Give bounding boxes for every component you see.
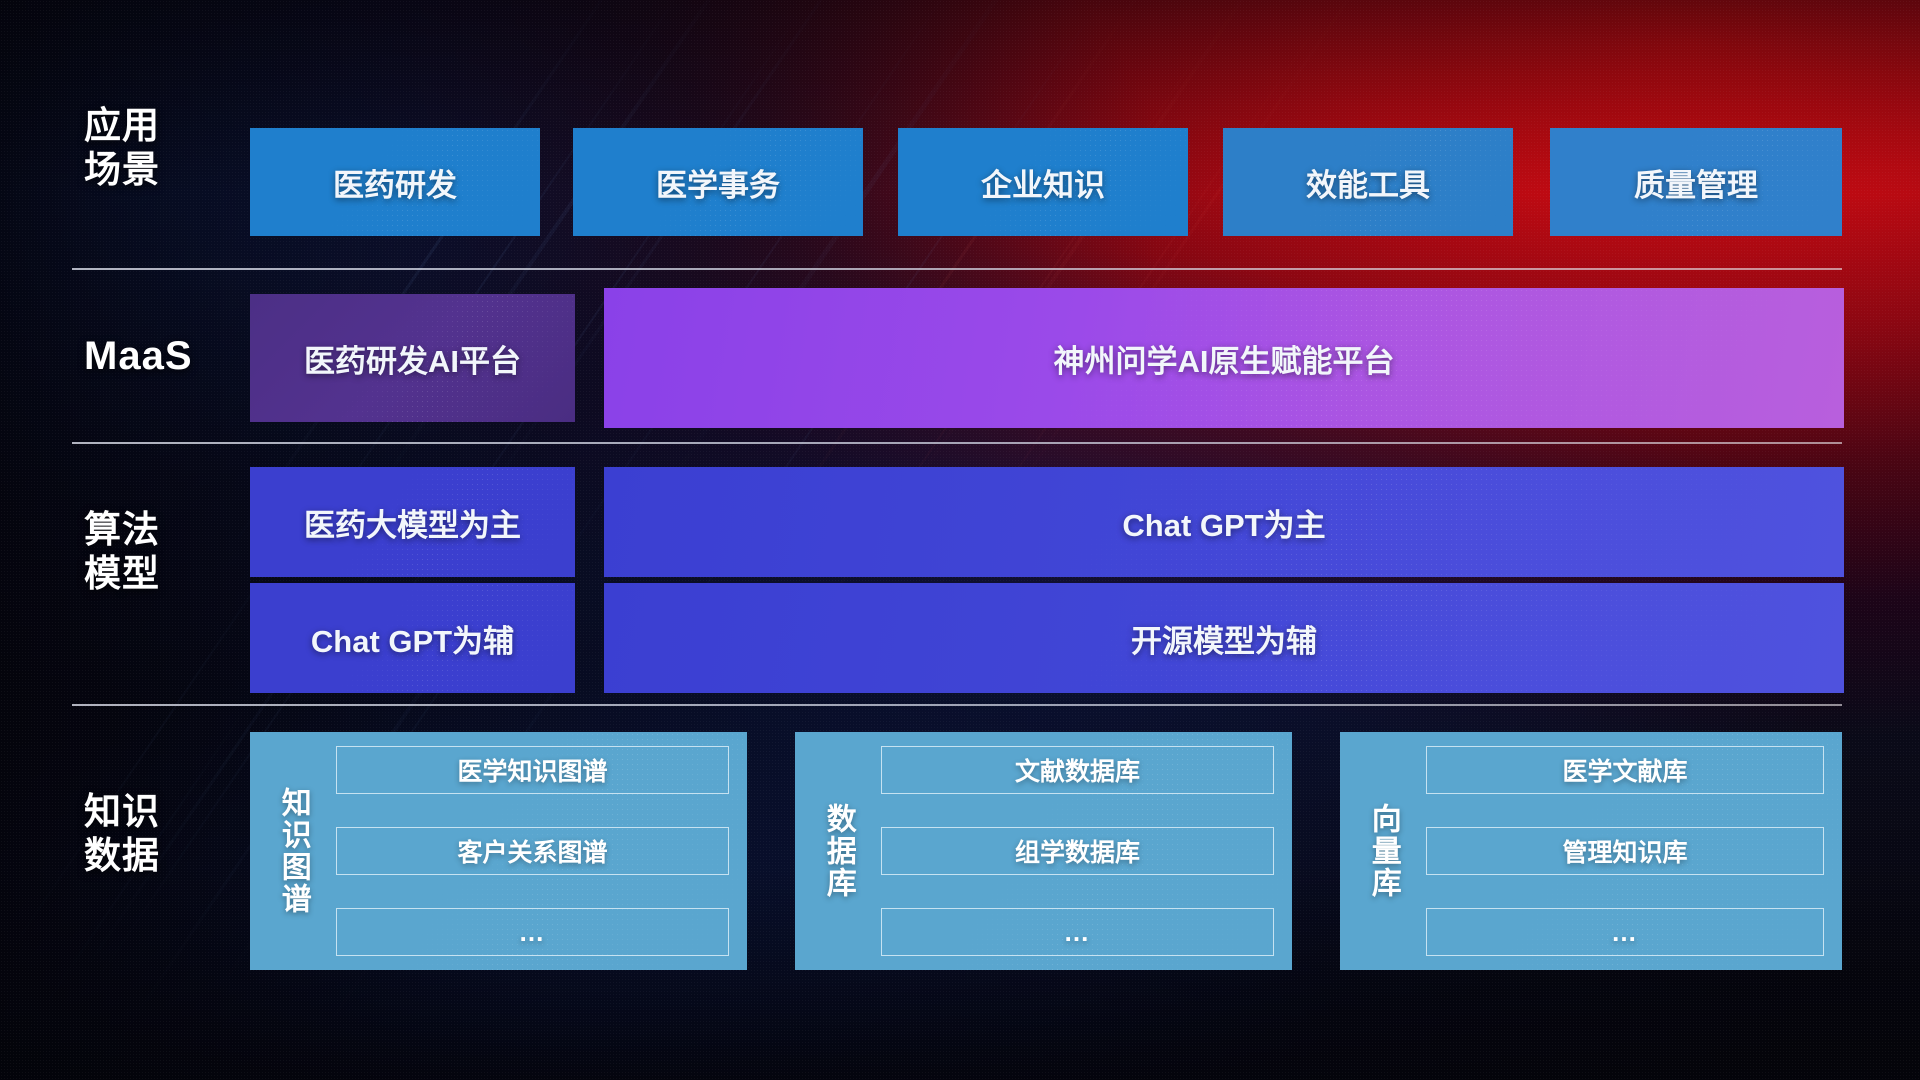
row-label-application: 应用 场景 — [84, 104, 234, 191]
knowledge-panel-vector[interactable]: 向量库 医学文献库 管理知识库 … — [1340, 732, 1842, 970]
algo-box-chatgpt-secondary[interactable]: Chat GPT为辅 — [250, 583, 575, 693]
divider-algorithm-knowledge — [72, 704, 1842, 706]
app-box-5[interactable]: 质量管理 — [1550, 128, 1842, 236]
knowledge-panel-graph[interactable]: 知识图谱 医学知识图谱 客户关系图谱 … — [250, 732, 747, 970]
row-label-algorithm-line1: 算法 — [84, 508, 234, 552]
knowledge-panel-database-vertical-label-text: 数据库 — [821, 803, 855, 899]
slide-canvas: 应用 场景 MaaS 算法 模型 知识 数据 医药研发 医学事务 企业 — [0, 0, 1920, 1080]
knowledge-item[interactable]: 文献数据库 — [881, 746, 1274, 794]
knowledge-panel-vector-vertical-label-text: 向量库 — [1366, 803, 1400, 899]
maas-box-enablement-label: 神州问学AI原生赋能平台 — [1054, 336, 1395, 381]
row-label-maas: MaaS — [84, 333, 234, 380]
divider-maas-algorithm — [72, 442, 1842, 444]
knowledge-item-more[interactable]: … — [1426, 908, 1824, 956]
knowledge-item-more[interactable]: … — [881, 908, 1274, 956]
row-label-algorithm: 算法 模型 — [84, 508, 234, 595]
algo-box-medical-primary-label: 医药大模型为主 — [304, 500, 521, 545]
app-box-3-label: 企业知识 — [981, 160, 1105, 205]
knowledge-item[interactable]: 组学数据库 — [881, 827, 1274, 875]
algo-box-medical-primary[interactable]: 医药大模型为主 — [250, 467, 575, 577]
algo-box-opensource-secondary[interactable]: 开源模型为辅 — [604, 583, 1844, 693]
row-label-application-line2: 场景 — [84, 148, 234, 192]
knowledge-panel-graph-vertical-label-text: 知识图谱 — [276, 787, 310, 915]
algo-box-chatgpt-primary-label: Chat GPT为主 — [1122, 500, 1325, 545]
knowledge-item[interactable]: 医学知识图谱 — [336, 746, 729, 794]
app-box-5-label: 质量管理 — [1634, 160, 1758, 205]
algo-box-opensource-secondary-label: 开源模型为辅 — [1131, 616, 1317, 661]
knowledge-item-more[interactable]: … — [336, 908, 729, 956]
knowledge-panel-vector-vertical-label: 向量库 — [1356, 803, 1410, 899]
row-label-knowledge-line2: 数据 — [84, 834, 234, 878]
app-box-2[interactable]: 医学事务 — [573, 128, 863, 236]
diagram-content: 应用 场景 MaaS 算法 模型 知识 数据 医药研发 医学事务 企业 — [0, 0, 1920, 1080]
maas-box-enablement[interactable]: 神州问学AI原生赋能平台 — [604, 288, 1844, 428]
knowledge-item[interactable]: 客户关系图谱 — [336, 827, 729, 875]
app-box-2-label: 医学事务 — [656, 160, 780, 205]
knowledge-panel-database-items: 文献数据库 组学数据库 … — [881, 746, 1274, 956]
knowledge-item[interactable]: 管理知识库 — [1426, 827, 1824, 875]
app-box-4[interactable]: 效能工具 — [1223, 128, 1513, 236]
row-label-maas-line1: MaaS — [84, 333, 234, 380]
maas-box-platform[interactable]: 医药研发AI平台 — [250, 294, 575, 422]
app-box-3[interactable]: 企业知识 — [898, 128, 1188, 236]
row-label-knowledge-line1: 知识 — [84, 790, 234, 834]
row-label-algorithm-line2: 模型 — [84, 552, 234, 596]
knowledge-panel-vector-items: 医学文献库 管理知识库 … — [1426, 746, 1824, 956]
knowledge-item[interactable]: 医学文献库 — [1426, 746, 1824, 794]
algo-box-chatgpt-secondary-label: Chat GPT为辅 — [311, 616, 514, 661]
knowledge-panel-graph-vertical-label: 知识图谱 — [266, 787, 320, 915]
row-label-application-line1: 应用 — [84, 104, 234, 148]
divider-application-maas — [72, 268, 1842, 270]
knowledge-panel-database[interactable]: 数据库 文献数据库 组学数据库 … — [795, 732, 1292, 970]
knowledge-panel-database-vertical-label: 数据库 — [811, 803, 865, 899]
algo-box-chatgpt-primary[interactable]: Chat GPT为主 — [604, 467, 1844, 577]
app-box-1[interactable]: 医药研发 — [250, 128, 540, 236]
app-box-4-label: 效能工具 — [1306, 160, 1430, 205]
app-box-1-label: 医药研发 — [333, 160, 457, 205]
row-label-knowledge: 知识 数据 — [84, 790, 234, 877]
maas-box-platform-label: 医药研发AI平台 — [304, 336, 521, 381]
knowledge-panel-graph-items: 医学知识图谱 客户关系图谱 … — [336, 746, 729, 956]
